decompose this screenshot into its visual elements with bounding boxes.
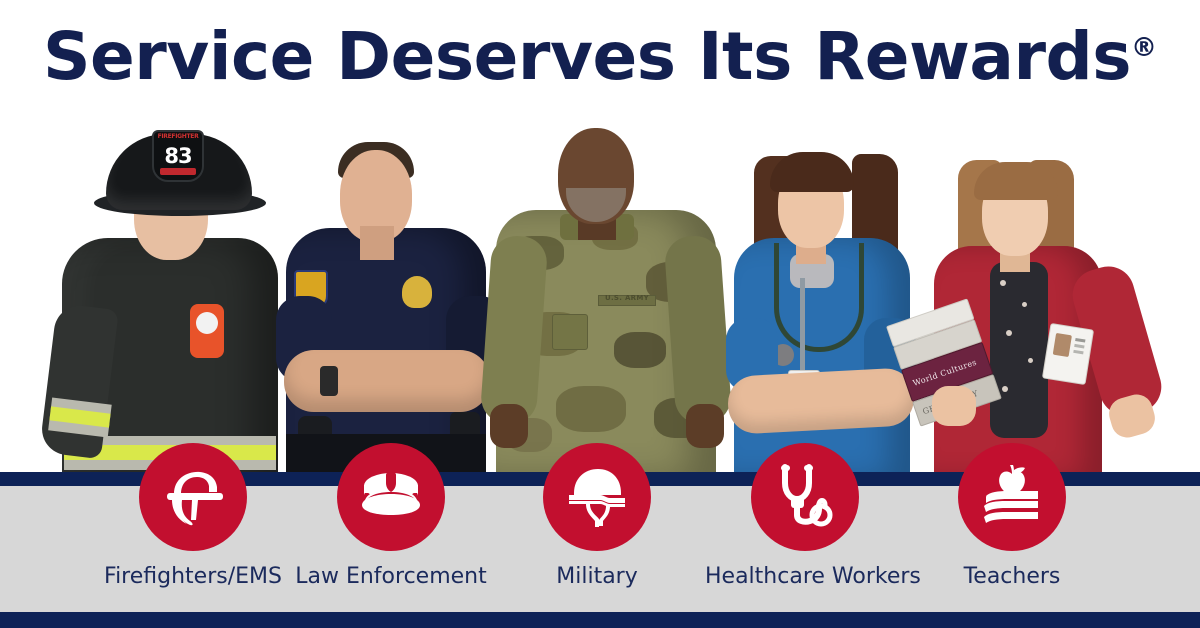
person-teacher: World Cultures GEOGRAPHY bbox=[908, 96, 1148, 478]
category-icon-circle[interactable] bbox=[958, 443, 1066, 551]
camo-patch bbox=[614, 332, 666, 368]
flashlight bbox=[190, 304, 224, 358]
person-police-officer bbox=[268, 96, 508, 478]
fire-helmet-icon bbox=[160, 466, 226, 528]
apple-on-books-icon bbox=[978, 464, 1046, 530]
id-photo bbox=[1053, 333, 1072, 357]
blouse-dot bbox=[1028, 358, 1033, 363]
person-firefighter: FIREFIGHTER 83 bbox=[48, 96, 298, 478]
category-healthcare-workers[interactable]: Healthcare Workers bbox=[705, 443, 905, 590]
category-label: Healthcare Workers bbox=[705, 564, 905, 590]
page-title: Service Deserves Its Rewards® bbox=[0, 6, 1200, 99]
promo-banner: Service Deserves Its Rewards® FIREFIGHTE… bbox=[0, 0, 1200, 628]
police-badge bbox=[402, 276, 432, 308]
police-cap-icon bbox=[356, 469, 426, 525]
category-label: Firefighters/EMS bbox=[93, 564, 293, 590]
helmet-shield-bar bbox=[160, 168, 196, 175]
person-healthcare-worker bbox=[716, 96, 926, 478]
category-band: Firefighters/EMS Law Enforcement bbox=[0, 472, 1200, 628]
category-icon-circle[interactable] bbox=[139, 443, 247, 551]
category-icon-circle[interactable] bbox=[337, 443, 445, 551]
helmet-shield: FIREFIGHTER 83 bbox=[152, 130, 204, 182]
crossed-arms bbox=[727, 367, 916, 435]
stethoscope-icon bbox=[773, 463, 837, 531]
category-label: Law Enforcement bbox=[291, 564, 491, 590]
hand-left bbox=[490, 404, 528, 448]
name-tape: U.S. ARMY bbox=[598, 295, 656, 306]
category-teachers[interactable]: Teachers bbox=[912, 443, 1112, 590]
category-icon-circle[interactable] bbox=[751, 443, 859, 551]
band-bottom-rule bbox=[0, 612, 1200, 628]
blouse-dot bbox=[1002, 386, 1008, 392]
category-label: Military bbox=[497, 564, 697, 590]
neck bbox=[360, 226, 394, 260]
category-military[interactable]: Military bbox=[497, 443, 697, 590]
helmet-shield-number: 83 bbox=[154, 144, 202, 168]
crossed-arms bbox=[284, 350, 490, 412]
badge-lanyard bbox=[800, 278, 805, 374]
registered-trademark-symbol: ® bbox=[1131, 33, 1157, 63]
helmet-shield-word: FIREFIGHTER bbox=[154, 133, 202, 140]
camo-patch bbox=[556, 386, 626, 432]
hair-top bbox=[974, 162, 1058, 200]
hand-holding-books bbox=[932, 386, 976, 426]
blouse-dot bbox=[1000, 280, 1006, 286]
category-icon-circle[interactable] bbox=[543, 443, 651, 551]
patterned-blouse bbox=[990, 262, 1048, 438]
category-law-enforcement[interactable]: Law Enforcement bbox=[291, 443, 491, 590]
wristwatch bbox=[320, 366, 338, 396]
id-text-lines bbox=[1075, 338, 1085, 343]
rank-insignia bbox=[552, 314, 588, 350]
school-id-badge bbox=[1042, 323, 1094, 385]
person-soldier: U.S. ARMY bbox=[486, 96, 726, 478]
blouse-dot bbox=[1022, 302, 1027, 307]
stethoscope-tubing bbox=[774, 243, 864, 352]
category-label: Teachers bbox=[912, 564, 1112, 590]
military-helmet-icon bbox=[564, 465, 630, 529]
page-title-text: Service Deserves Its Rewards bbox=[43, 18, 1131, 95]
blouse-dot bbox=[1006, 330, 1012, 336]
category-firefighters-ems[interactable]: Firefighters/EMS bbox=[93, 443, 293, 590]
people-photo-group: FIREFIGHTER 83 bbox=[0, 96, 1200, 478]
hair-top bbox=[770, 152, 854, 192]
name-tape-text: U.S. ARMY bbox=[599, 294, 655, 302]
